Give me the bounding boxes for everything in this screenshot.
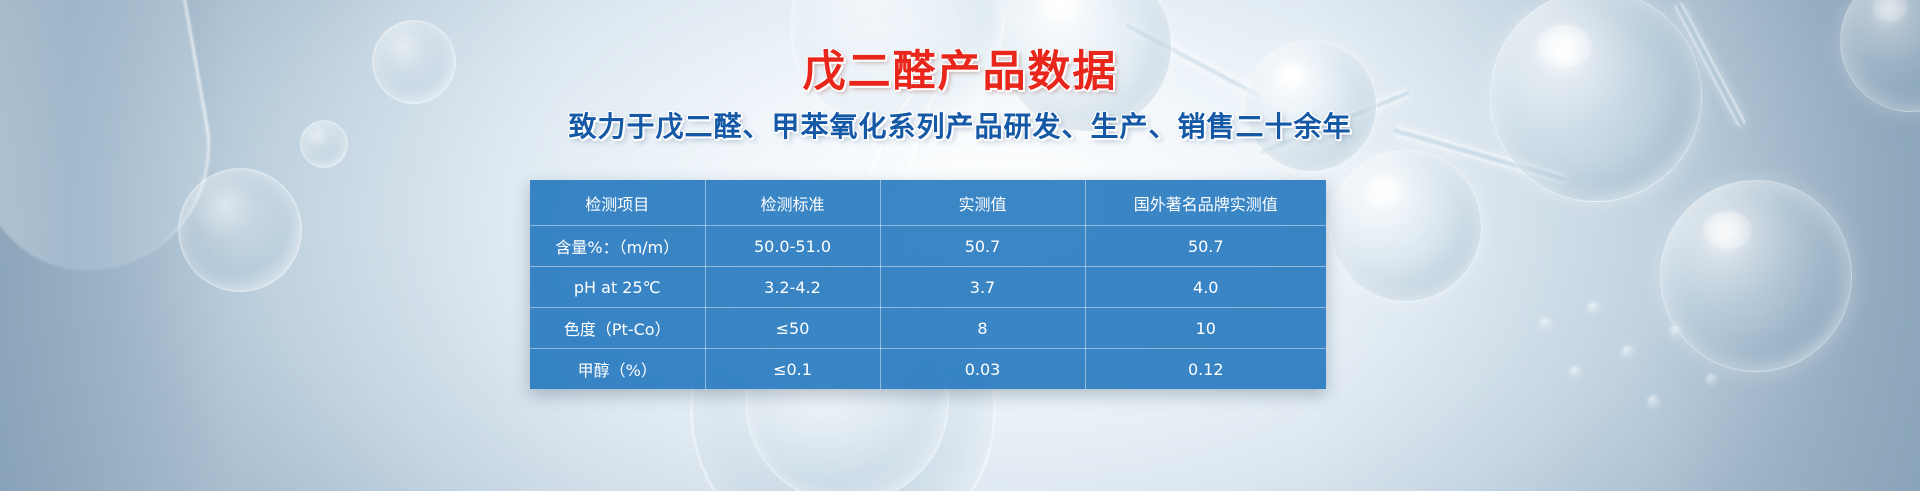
cell-test-item: 色度（Pt-Co） [530, 308, 705, 349]
product-data-banner: 戊二醛产品数据 致力于戊二醛、甲苯氧化系列产品研发、生产、销售二十余年 检测项目… [0, 0, 1920, 491]
headline-block: 戊二醛产品数据 致力于戊二醛、甲苯氧化系列产品研发、生产、销售二十余年 [0, 48, 1920, 145]
cell-test-item: 含量%：（m/m） [530, 226, 705, 267]
table-row: pH at 25℃ 3.2-4.2 3.7 4.0 [530, 267, 1326, 308]
cell-measured-value: 0.03 [880, 349, 1085, 390]
page-title: 戊二醛产品数据 [0, 48, 1920, 96]
cell-measured-value: 3.7 [880, 267, 1085, 308]
column-header-foreign-brand-value: 国外著名品牌实测值 [1085, 180, 1326, 226]
table-header-row: 检测项目 检测标准 实测值 国外著名品牌实测值 [530, 180, 1326, 226]
cell-test-standard: ≤50 [705, 308, 880, 349]
spec-table-container: 检测项目 检测标准 实测值 国外著名品牌实测值 含量%：（m/m） 50.0-5… [530, 180, 1326, 389]
spec-table: 检测项目 检测标准 实测值 国外著名品牌实测值 含量%：（m/m） 50.0-5… [530, 180, 1326, 389]
page-subtitle: 致力于戊二醛、甲苯氧化系列产品研发、生产、销售二十余年 [0, 105, 1920, 145]
column-header-measured-value: 实测值 [880, 180, 1085, 226]
cell-test-standard: 50.0-51.0 [705, 226, 880, 267]
column-header-test-item: 检测项目 [530, 180, 705, 226]
cell-test-item: 甲醇（%） [530, 349, 705, 390]
cell-measured-value: 50.7 [880, 226, 1085, 267]
table-row: 甲醇（%） ≤0.1 0.03 0.12 [530, 349, 1326, 390]
cell-foreign-brand-value: 10 [1085, 308, 1326, 349]
cell-measured-value: 8 [880, 308, 1085, 349]
table-row: 色度（Pt-Co） ≤50 8 10 [530, 308, 1326, 349]
cell-foreign-brand-value: 50.7 [1085, 226, 1326, 267]
cell-test-standard: 3.2-4.2 [705, 267, 880, 308]
column-header-test-standard: 检测标准 [705, 180, 880, 226]
table-row: 含量%：（m/m） 50.0-51.0 50.7 50.7 [530, 226, 1326, 267]
cell-foreign-brand-value: 0.12 [1085, 349, 1326, 390]
cell-foreign-brand-value: 4.0 [1085, 267, 1326, 308]
cell-test-item: pH at 25℃ [530, 267, 705, 308]
cell-test-standard: ≤0.1 [705, 349, 880, 390]
